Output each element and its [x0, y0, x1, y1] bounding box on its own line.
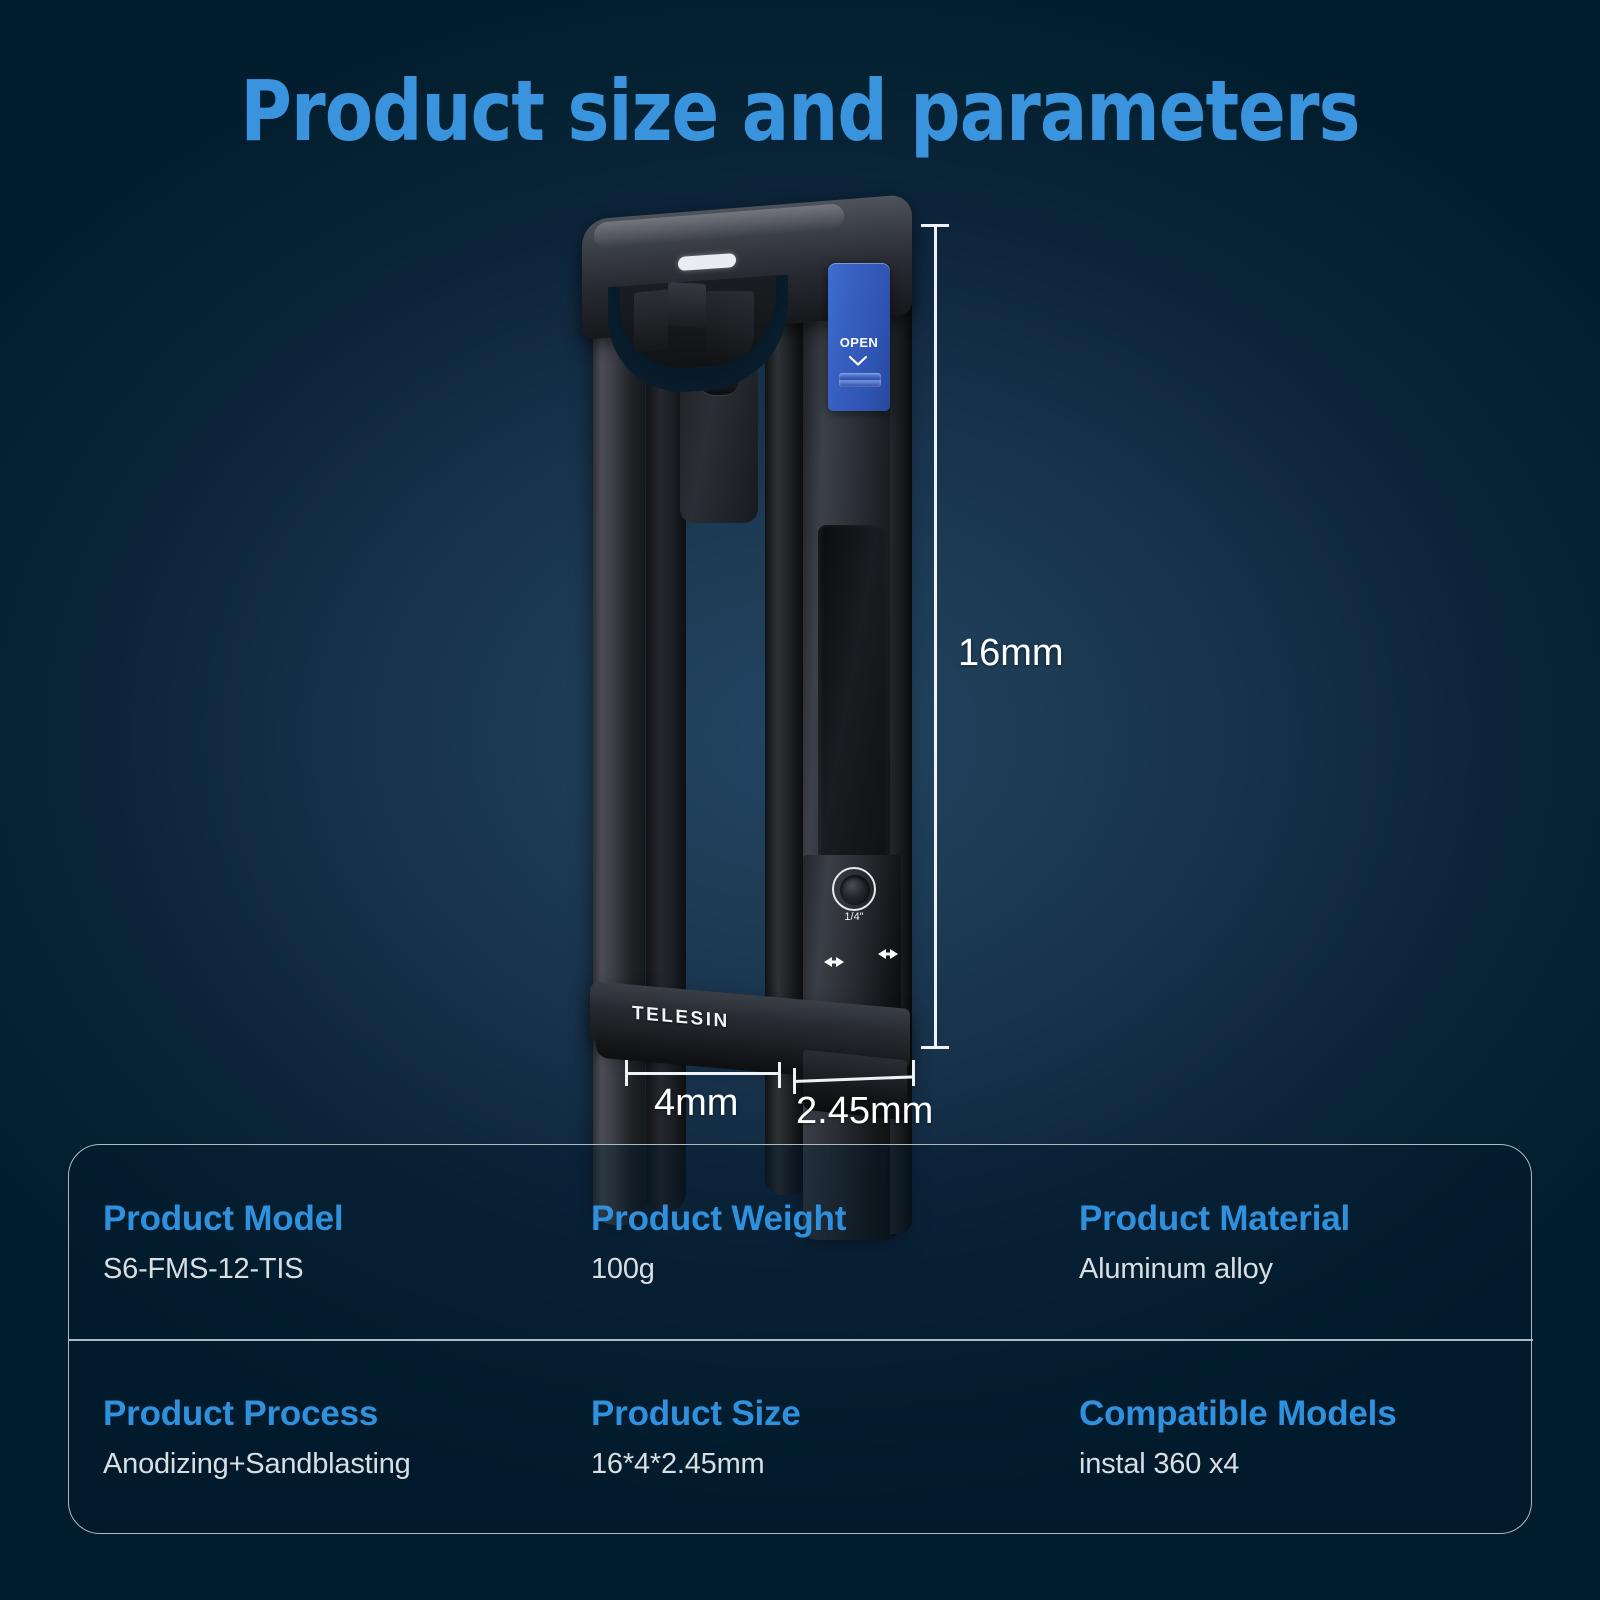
- spec-cell-product-material: Product Material Aluminum alloy: [1045, 1145, 1533, 1339]
- mount-label: 1/4": [832, 911, 876, 923]
- open-latch-label: OPEN: [828, 335, 890, 350]
- spec-cell-product-process: Product Process Anodizing+Sandblasting: [69, 1340, 557, 1534]
- infographic-canvas: Product size and parameters OPEN: [0, 0, 1600, 1600]
- dim-line-vertical: [934, 224, 937, 1048]
- spec-label: Product Process: [103, 1394, 557, 1434]
- product-illustration: OPEN 1/4" TELESIN: [560, 195, 980, 1075]
- grip-slot-icon: [839, 373, 881, 387]
- align-arrow-icon: [824, 955, 844, 969]
- dim-line-horizontal: [625, 1072, 780, 1075]
- spec-value: S6-FMS-12-TIS: [103, 1253, 557, 1286]
- chevron-down-icon: [849, 353, 867, 363]
- spec-cell-product-weight: Product Weight 100g: [557, 1145, 1045, 1339]
- thread-hole: [840, 875, 870, 905]
- dim-tick-right: [778, 1062, 781, 1088]
- align-arrow-icon: [878, 947, 898, 961]
- dimension-width-label: 4mm: [654, 1082, 738, 1125]
- spec-row: Product Process Anodizing+Sandblasting P…: [69, 1340, 1533, 1534]
- spec-label: Product Model: [103, 1199, 557, 1239]
- spec-value: 100g: [591, 1253, 1045, 1286]
- spec-label: Product Material: [1079, 1199, 1533, 1239]
- clamp-jaw-right: [706, 291, 754, 361]
- dim-tick-bottom: [921, 1046, 949, 1049]
- specifications-card: Product Model S6-FMS-12-TIS Product Weig…: [68, 1144, 1532, 1534]
- spec-row: Product Model S6-FMS-12-TIS Product Weig…: [69, 1145, 1533, 1339]
- spec-value: Anodizing+Sandblasting: [103, 1448, 557, 1481]
- dimension-depth-label: 2.45mm: [796, 1090, 933, 1133]
- clamp-jaw-left: [634, 289, 668, 353]
- spec-label: Product Size: [591, 1394, 1045, 1434]
- spec-cell-product-model: Product Model S6-FMS-12-TIS: [69, 1145, 557, 1339]
- spec-cell-compatible-models: Compatible Models instal 360 x4: [1045, 1340, 1533, 1534]
- spec-label: Compatible Models: [1079, 1394, 1533, 1434]
- left-rail-outer: [593, 265, 645, 1225]
- spec-value: instal 360 x4: [1079, 1448, 1533, 1481]
- dim-tick-right: [912, 1060, 915, 1086]
- page-title: Product size and parameters: [56, 62, 1544, 160]
- spec-cell-product-size: Product Size 16*4*2.45mm: [557, 1340, 1045, 1534]
- dimension-height-label: 16mm: [958, 632, 1064, 675]
- spec-label: Product Weight: [591, 1199, 1045, 1239]
- clamp-jaw-center: [668, 282, 706, 328]
- spec-value: Aluminum alloy: [1079, 1253, 1533, 1286]
- spec-value: 16*4*2.45mm: [591, 1448, 1045, 1481]
